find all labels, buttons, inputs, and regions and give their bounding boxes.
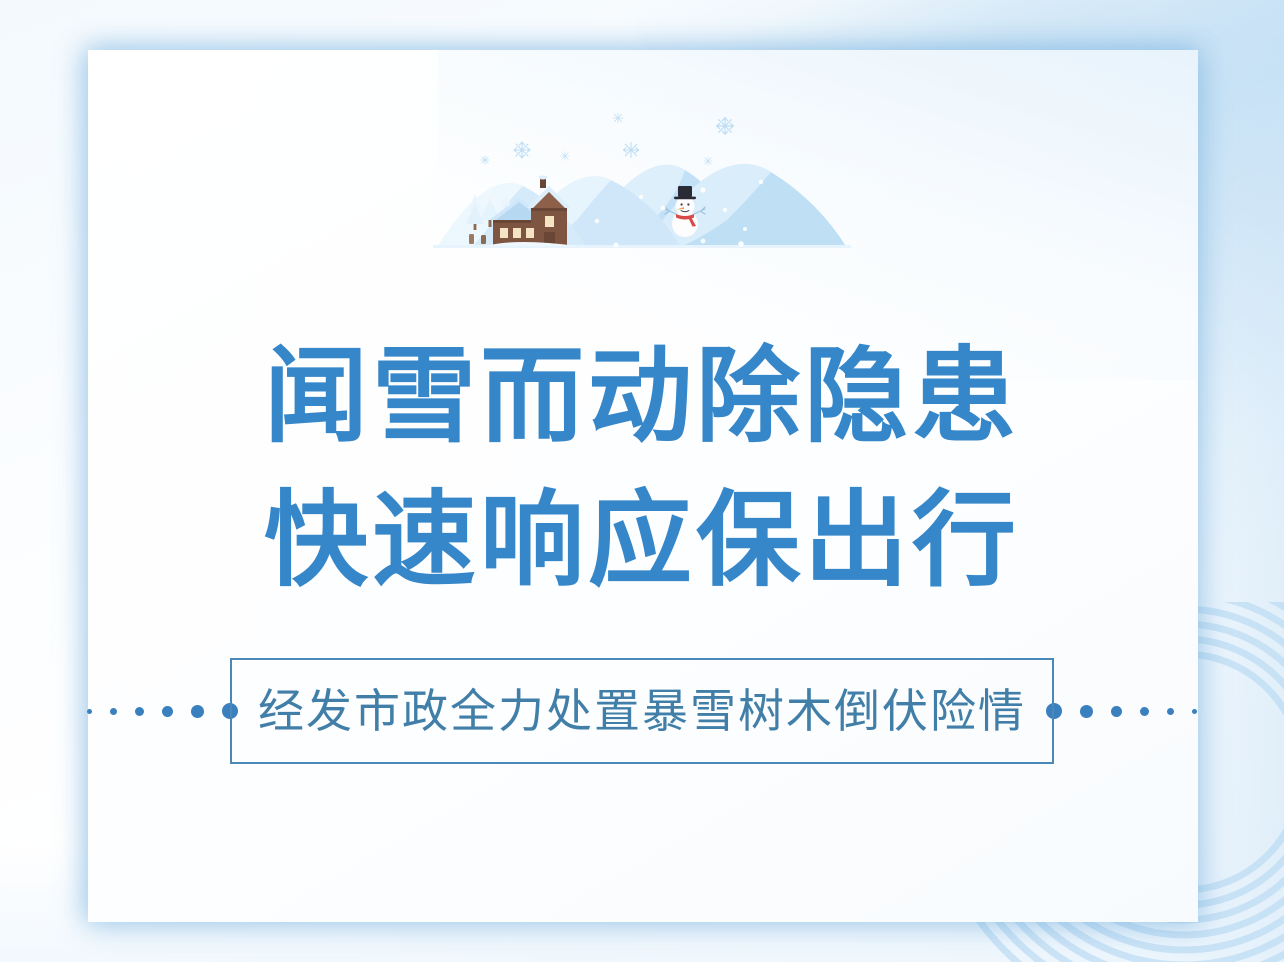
dotted-rail-right <box>1046 658 1197 764</box>
rail-dot <box>110 708 117 715</box>
rail-dot <box>1167 708 1174 715</box>
subtitle-text: 经发市政全力处置暴雪树木倒伏险情 <box>258 688 1026 734</box>
rail-dot <box>191 705 204 718</box>
rail-dot <box>135 707 144 716</box>
winter-scene-illustration <box>427 98 857 248</box>
dotted-rail-left <box>87 658 238 764</box>
subtitle-box: 经发市政全力处置暴雪树木倒伏险情 <box>230 658 1054 764</box>
snowflakes <box>481 113 734 165</box>
rail-dot <box>1080 705 1093 718</box>
poster-canvas: 闻雪而动除隐患 快速响应保出行 经发市政全力处置暴雪树木倒伏险情 <box>0 0 1284 962</box>
rail-dot <box>1192 709 1197 714</box>
rail-dot <box>162 706 173 717</box>
rail-dot <box>1111 706 1122 717</box>
poster-headline: 闻雪而动除隐患 快速响应保出行 <box>0 326 1284 613</box>
headline-line-2: 快速响应保出行 <box>0 470 1284 614</box>
rail-dot <box>87 709 92 714</box>
subtitle-row: 经发市政全力处置暴雪树木倒伏险情 <box>0 658 1284 764</box>
headline-line-1: 闻雪而动除隐患 <box>0 326 1284 470</box>
rail-dot <box>1140 707 1149 716</box>
